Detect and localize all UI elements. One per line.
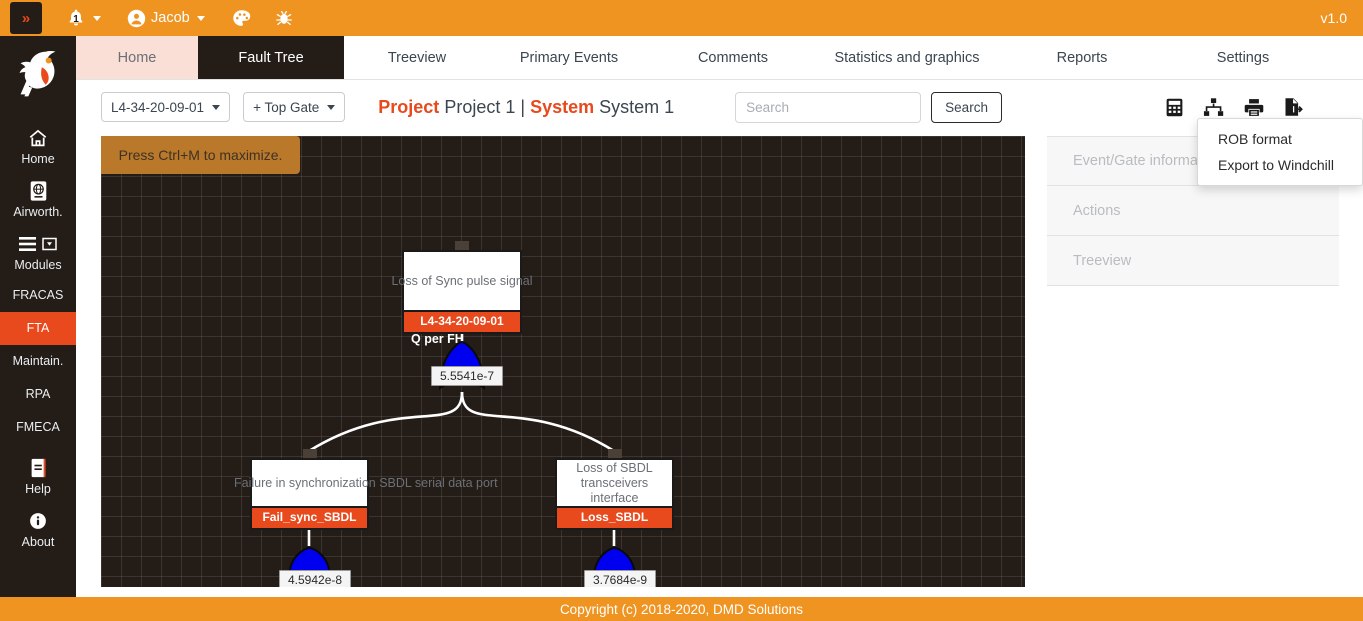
node-probability-left: 4.5942e-8 — [279, 570, 351, 587]
tab-treeview[interactable]: Treeview — [344, 36, 490, 79]
sidebar-item-label: FTA — [27, 321, 50, 336]
project-system-title: Project Project 1 | System System 1 — [378, 97, 674, 118]
menu-item-label: ROB format — [1218, 131, 1292, 147]
tab-reports[interactable]: Reports — [996, 36, 1168, 79]
tab-label: Statistics and graphics — [834, 50, 979, 66]
tree-select-label: L4-34-20-09-01 — [111, 100, 204, 115]
node-code: L4-34-20-09-01 — [402, 312, 522, 334]
sidebar-item-label: RPA — [26, 387, 51, 402]
home-icon — [27, 127, 49, 149]
user-name-label: Jacob — [151, 10, 190, 26]
menu-item-label: Export to Windchill — [1218, 157, 1334, 173]
sidebar-item-label: FRACAS — [13, 288, 64, 303]
user-menu-button[interactable]: Jacob — [121, 0, 213, 36]
sidebar-item-about[interactable]: About — [0, 503, 76, 556]
node-drag-handle[interactable] — [455, 241, 469, 250]
footer-bar: Copyright (c) 2018-2020, DMD Solutions — [0, 597, 1363, 621]
system-label: System — [530, 97, 594, 117]
chevron-down-icon — [197, 16, 205, 21]
node-drag-handle[interactable] — [608, 449, 622, 458]
menu-list-icon — [17, 233, 59, 255]
export-dropdown-menu: ROB format Export to Windchill — [1197, 118, 1363, 186]
top-bar: » 1 Jacob — [0, 0, 1363, 36]
sidebar-item-rpa[interactable]: RPA — [0, 378, 76, 411]
chevron-down-icon — [212, 105, 220, 110]
add-top-gate-dropdown[interactable]: + Top Gate — [243, 92, 345, 122]
bell-icon: 1 — [66, 8, 86, 28]
robin-bird-logo — [7, 44, 69, 106]
report-bug-button[interactable] — [268, 0, 300, 36]
panel-section-actions[interactable]: Actions — [1047, 186, 1339, 236]
sidebar-item-label: FMECA — [16, 420, 60, 435]
passport-globe-icon — [29, 180, 48, 202]
notifications-button[interactable]: 1 — [60, 0, 109, 36]
tab-statistics-and-graphics[interactable]: Statistics and graphics — [818, 36, 996, 79]
project-label: Project — [378, 97, 439, 117]
printer-icon[interactable] — [1243, 97, 1265, 118]
fault-tree-node-top[interactable]: Loss of Sync pulse signal L4-34-20-09-01 — [402, 250, 522, 334]
node-probability-right: 3.7684e-9 — [584, 570, 656, 587]
fault-tree-node-right[interactable]: Loss of SBDL transceivers interface Loss… — [555, 458, 674, 530]
tab-label: Primary Events — [520, 50, 618, 66]
fault-tree-canvas[interactable]: Press Ctrl+M to maximize. Loss of Sync p… — [101, 136, 1025, 587]
left-sidebar: Home Airworth. — [0, 36, 76, 597]
sidebar-item-modules[interactable]: Modules — [0, 226, 76, 279]
sidebar-item-home[interactable]: Home — [0, 120, 76, 173]
chevron-down-icon — [93, 16, 101, 21]
title-separator: | — [520, 97, 525, 117]
menu-item-rob-format[interactable]: ROB format — [1198, 126, 1362, 152]
node-probability-top: 5.5541e-7 — [431, 366, 503, 386]
sidebar-item-fta[interactable]: FTA — [0, 312, 76, 345]
sidebar-item-label: Home — [21, 152, 54, 167]
sidebar-item-label: Airworth. — [13, 205, 62, 220]
fault-tree-node-left[interactable]: Failure in synchronization SBDL serial d… — [250, 458, 369, 530]
sidebar-item-label: Maintain. — [13, 354, 64, 369]
double-chevron-right-icon: » — [22, 10, 30, 27]
app-version: v1.0 — [1321, 0, 1347, 36]
sidebar-item-fmeca[interactable]: FMECA — [0, 411, 76, 444]
node-drag-handle[interactable] — [303, 449, 317, 458]
sidebar-item-airworthiness[interactable]: Airworth. — [0, 173, 76, 226]
tab-label: Home — [118, 50, 157, 66]
panel-section-label: Treeview — [1073, 253, 1131, 269]
tab-label: Reports — [1057, 50, 1108, 66]
tab-home[interactable]: Home — [76, 36, 198, 79]
tab-label: Treeview — [388, 50, 446, 66]
sidebar-collapse-button[interactable]: » — [10, 2, 42, 34]
tab-fault-tree[interactable]: Fault Tree — [198, 36, 344, 79]
search-button[interactable]: Search — [931, 92, 1002, 123]
main-tab-bar: Home Fault Tree Treeview Primary Events … — [76, 36, 1363, 80]
node-code: Loss_SBDL — [555, 508, 674, 530]
copyright-text: Copyright (c) 2018-2020, DMD Solutions — [560, 602, 803, 617]
panel-section-label: Actions — [1073, 203, 1121, 219]
palette-icon — [231, 8, 252, 29]
book-icon — [29, 457, 48, 479]
tab-comments[interactable]: Comments — [648, 36, 818, 79]
theme-button[interactable] — [225, 0, 258, 36]
calculator-icon[interactable] — [1164, 97, 1185, 118]
user-avatar-icon — [127, 9, 146, 28]
system-name: System 1 — [599, 97, 674, 117]
project-name: Project 1 — [444, 97, 515, 117]
tree-diagram-icon[interactable] — [1202, 97, 1226, 118]
menu-item-export-to-windchill[interactable]: Export to Windchill — [1198, 152, 1362, 178]
sidebar-item-label: Modules — [14, 258, 61, 273]
sidebar-item-maintenance[interactable]: Maintain. — [0, 345, 76, 378]
search-input[interactable] — [735, 92, 921, 123]
node-title: Loss of SBDL transceivers interface — [563, 461, 667, 506]
panel-section-treeview[interactable]: Treeview — [1047, 236, 1339, 286]
tab-primary-events[interactable]: Primary Events — [490, 36, 648, 79]
node-code: Fail_sync_SBDL — [250, 508, 369, 530]
node-title-box: Loss of SBDL transceivers interface — [555, 458, 674, 508]
tab-settings[interactable]: Settings — [1168, 36, 1318, 79]
tab-label: Fault Tree — [238, 50, 303, 66]
sidebar-item-label: Help — [25, 482, 51, 497]
export-file-icon[interactable] — [1282, 96, 1303, 118]
add-top-gate-label: + Top Gate — [253, 100, 319, 115]
bug-icon — [274, 8, 294, 28]
notification-count: 1 — [66, 8, 86, 28]
sidebar-item-fracas[interactable]: FRACAS — [0, 279, 76, 312]
tab-label: Settings — [1217, 50, 1269, 66]
tab-label: Comments — [698, 50, 768, 66]
node-title: Failure in synchronization SBDL serial d… — [234, 476, 374, 491]
sidebar-item-help[interactable]: Help — [0, 450, 76, 503]
chevron-down-icon — [327, 105, 335, 110]
node-title: Loss of Sync pulse signal — [391, 274, 532, 289]
fault-tree-toolbar: L4-34-20-09-01 + Top Gate Project Projec… — [76, 80, 1363, 134]
node-title-box: Loss of Sync pulse signal — [402, 250, 522, 312]
toolbar-icon-group — [1164, 96, 1303, 118]
node-title-box: Failure in synchronization SBDL serial d… — [250, 458, 369, 508]
info-circle-icon — [29, 510, 47, 532]
tree-select-dropdown[interactable]: L4-34-20-09-01 — [101, 92, 230, 122]
sidebar-item-label: About — [22, 535, 55, 550]
